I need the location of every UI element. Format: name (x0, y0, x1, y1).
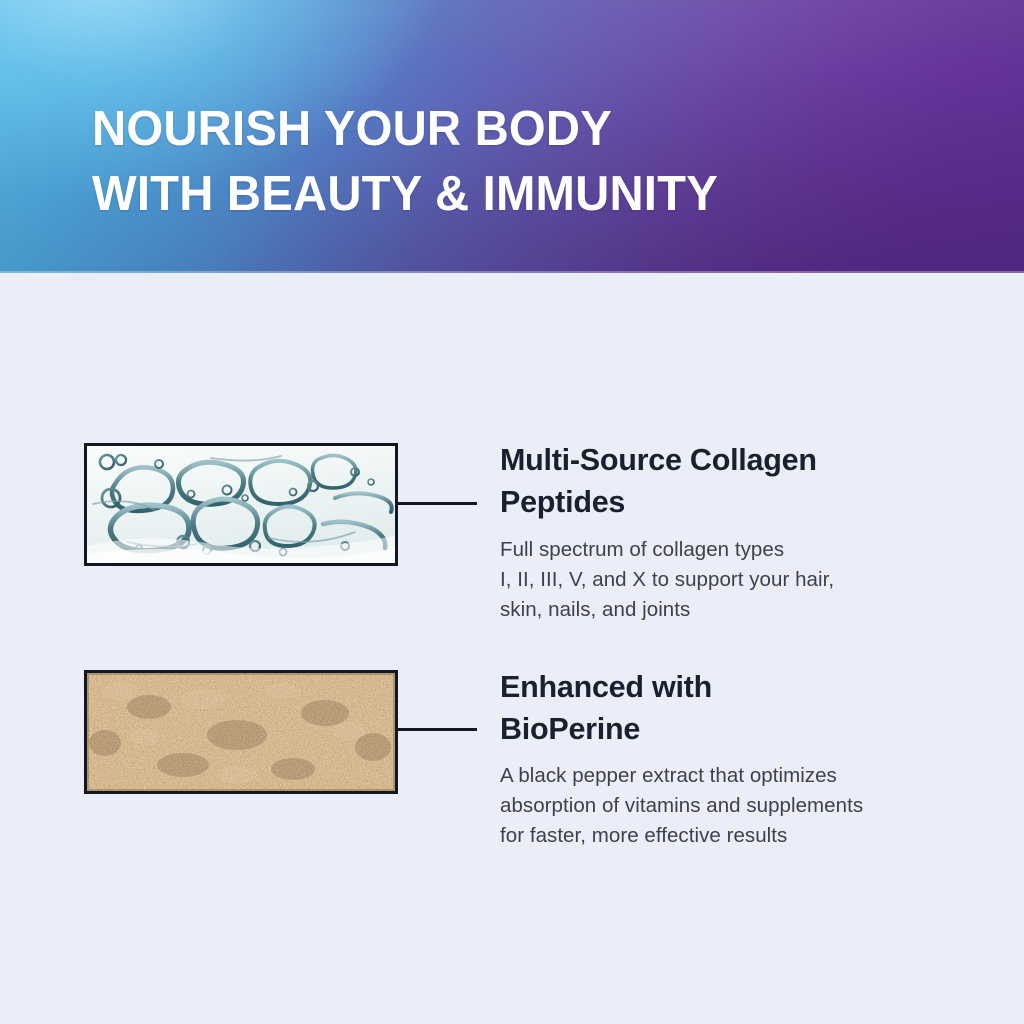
page-title-line-1: NOURISH YOUR BODY (92, 97, 941, 162)
feature-heading: Multi-Source Collagen Peptides (500, 439, 1000, 523)
banner-bottom-edge (0, 271, 1024, 273)
page-title-line-2: WITH BEAUTY & IMMUNITY (92, 162, 941, 227)
header-banner: NOURISH YOUR BODY WITH BEAUTY & IMMUNITY (0, 0, 1024, 273)
page-title: NOURISH YOUR BODY WITH BEAUTY & IMMUNITY (92, 97, 941, 227)
feature-connector-line (397, 502, 477, 505)
feature-text-block: Multi-Source Collagen Peptides Full spec… (500, 439, 1000, 625)
product-infographic: NOURISH YOUR BODY WITH BEAUTY & IMMUNITY (0, 0, 1024, 1024)
feature-description: Full spectrum of collagen types I, II, I… (500, 535, 1000, 625)
ground-black-pepper-image (84, 670, 398, 794)
feature-heading: Enhanced with BioPerine (500, 666, 1000, 750)
feature-connector-line (397, 728, 477, 731)
feature-description: A black pepper extract that optimizes ab… (500, 761, 1000, 851)
collagen-gel-bubbles-image (84, 443, 398, 566)
feature-text-block: Enhanced with BioPerine A black pepper e… (500, 666, 1000, 851)
